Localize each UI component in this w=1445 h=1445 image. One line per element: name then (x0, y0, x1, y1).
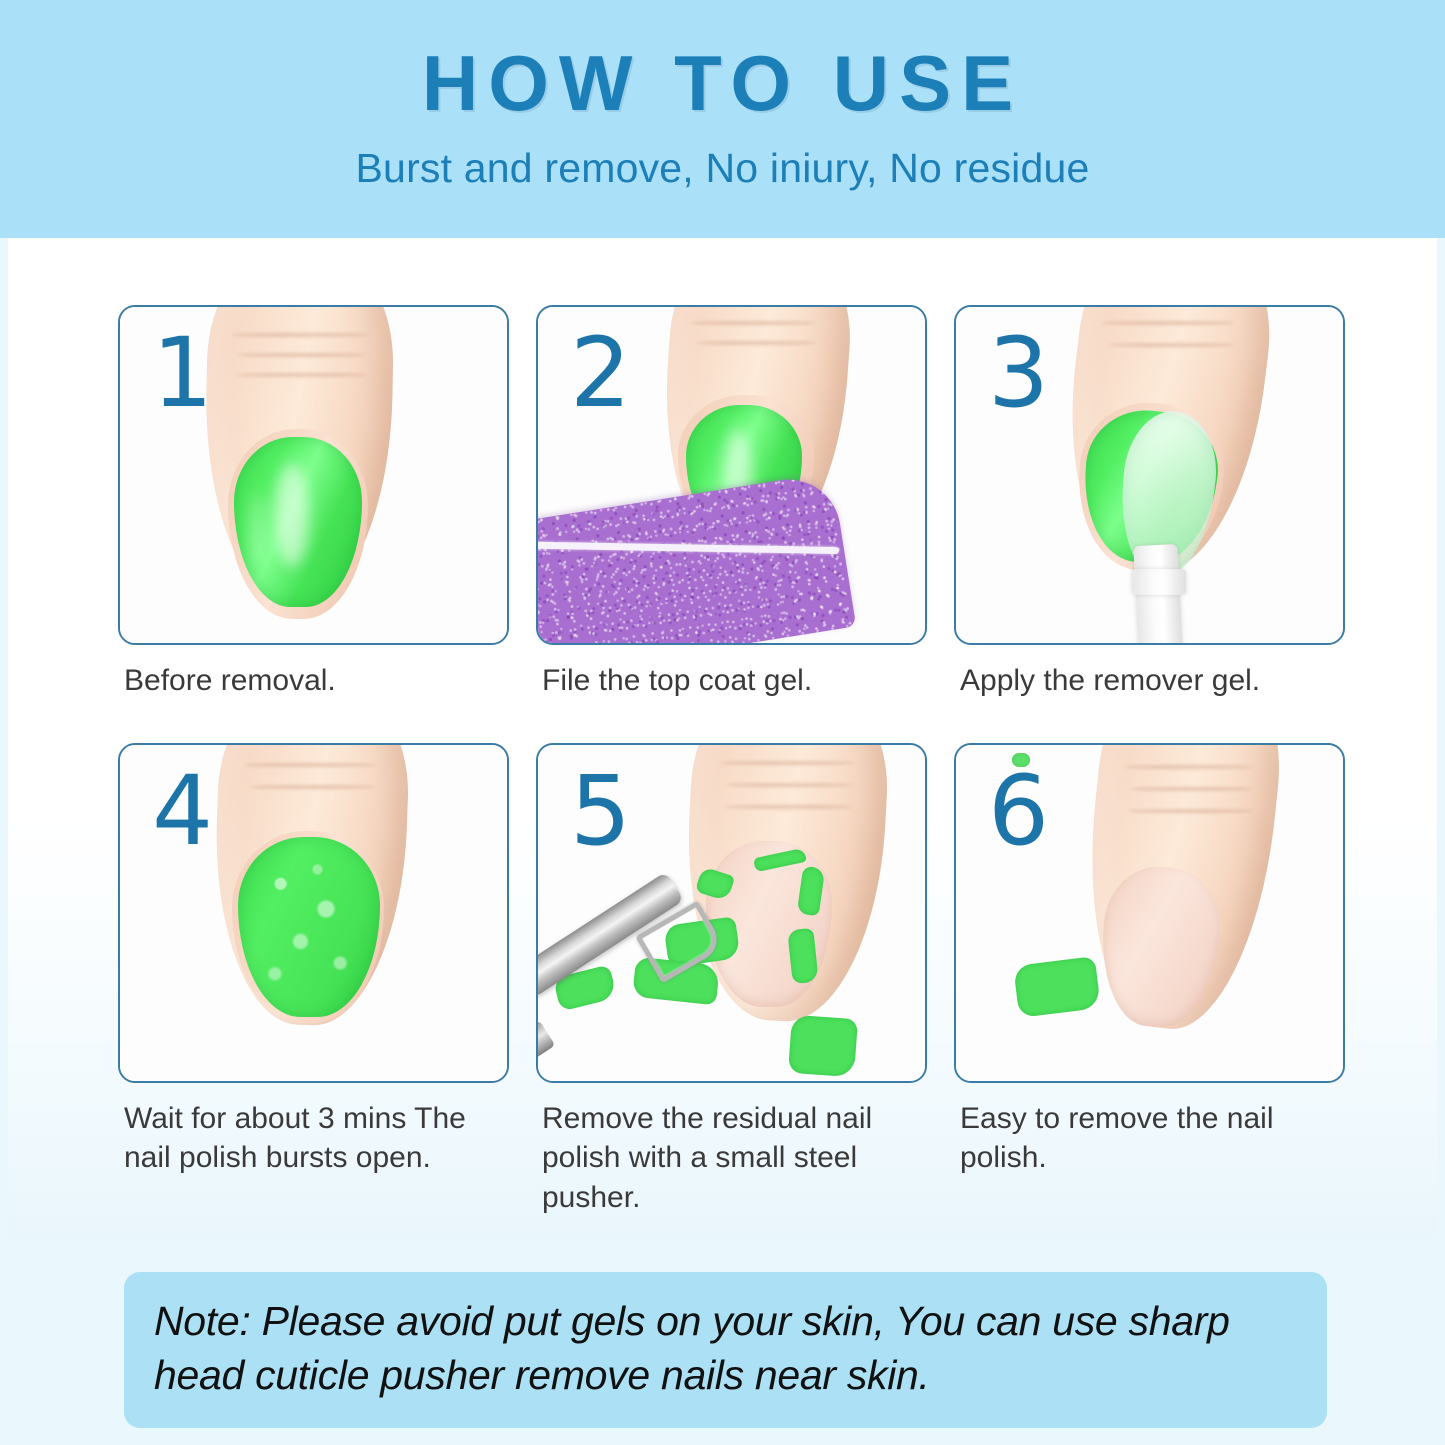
green-polish-flake (788, 1014, 858, 1076)
header-band: HOW TO USE Burst and remove, No iniury, … (0, 0, 1445, 238)
knuckle-line (244, 763, 376, 767)
green-polish-flake (787, 927, 819, 983)
knuckle-line (1128, 809, 1252, 813)
step-card-2[interactable]: 2 (536, 305, 927, 645)
buffer-grit-texture (538, 472, 856, 643)
step-card-4[interactable]: 4 (118, 743, 509, 1083)
step-cell-1: 1 Before removal. (118, 305, 509, 701)
brush-collar (1132, 569, 1186, 595)
page-subtitle: Burst and remove, No iniury, No residue (0, 146, 1445, 191)
steel-pusher-cap (538, 1020, 555, 1064)
step-cell-6: 6 Easy to remove the nail polish. (954, 743, 1345, 1218)
knuckle-line (726, 783, 852, 787)
page-title: HOW TO USE (0, 44, 1445, 122)
step-cell-2: 2 File the top coat gel. (536, 305, 927, 701)
green-polish-flake (1013, 956, 1101, 1018)
knuckle-line (690, 321, 816, 325)
infographic-page: HOW TO USE Burst and remove, No iniury, … (0, 0, 1445, 1445)
knuckle-line (236, 373, 366, 377)
steps-row-1: 1 Before removal. (118, 305, 1345, 701)
step-caption-6: Easy to remove the nail polish. (954, 1099, 1332, 1178)
nail-highlight (249, 493, 265, 565)
knuckle-line (1124, 765, 1252, 769)
knuckle-line (232, 333, 368, 337)
step-number-5: 5 (570, 763, 631, 859)
step-number-1: 1 (152, 325, 213, 421)
step-cell-4: 4 Wait for about 3 mins The nail polish … (118, 743, 509, 1218)
knuckle-line (1108, 343, 1234, 347)
step-cell-3: 3 Apply the remover gel. (954, 305, 1345, 701)
step-number-4: 4 (152, 763, 213, 859)
purple-nail-file-buffer (538, 472, 856, 643)
step-number-2: 2 (570, 325, 631, 421)
nail-highlight (275, 463, 309, 567)
step-card-1[interactable]: 1 (118, 305, 509, 645)
knuckle-line (724, 805, 852, 809)
steps-row-2: 4 Wait for about 3 mins The nail polish … (118, 743, 1345, 1218)
step-caption-1: Before removal. (118, 661, 496, 701)
step-card-6[interactable]: 6 (954, 743, 1345, 1083)
steps-grid: 1 Before removal. (118, 305, 1345, 1217)
step-cell-5: 5 Remove the residual nail polish with a… (536, 743, 927, 1218)
step-caption-5: Remove the residual nail polish with a s… (536, 1099, 914, 1218)
step-number-3: 3 (988, 325, 1049, 421)
step-caption-3: Apply the remover gel. (954, 661, 1332, 701)
knuckle-line (720, 761, 854, 765)
knuckle-line (238, 353, 366, 357)
steps-panel: 1 Before removal. (8, 238, 1437, 1238)
step-caption-4: Wait for about 3 mins The nail polish bu… (118, 1099, 496, 1178)
step-number-6: 6 (988, 763, 1049, 859)
note-text: Note: Please avoid put gels on your skin… (154, 1294, 1297, 1402)
knuckle-line (250, 785, 374, 789)
step-card-5[interactable]: 5 (536, 743, 927, 1083)
step-caption-2: File the top coat gel. (536, 661, 914, 701)
step-card-3[interactable]: 3 (954, 305, 1345, 645)
note-box: Note: Please avoid put gels on your skin… (124, 1272, 1327, 1428)
knuckle-line (696, 341, 816, 345)
knuckle-line (1130, 787, 1252, 791)
knuckle-line (1102, 321, 1234, 325)
